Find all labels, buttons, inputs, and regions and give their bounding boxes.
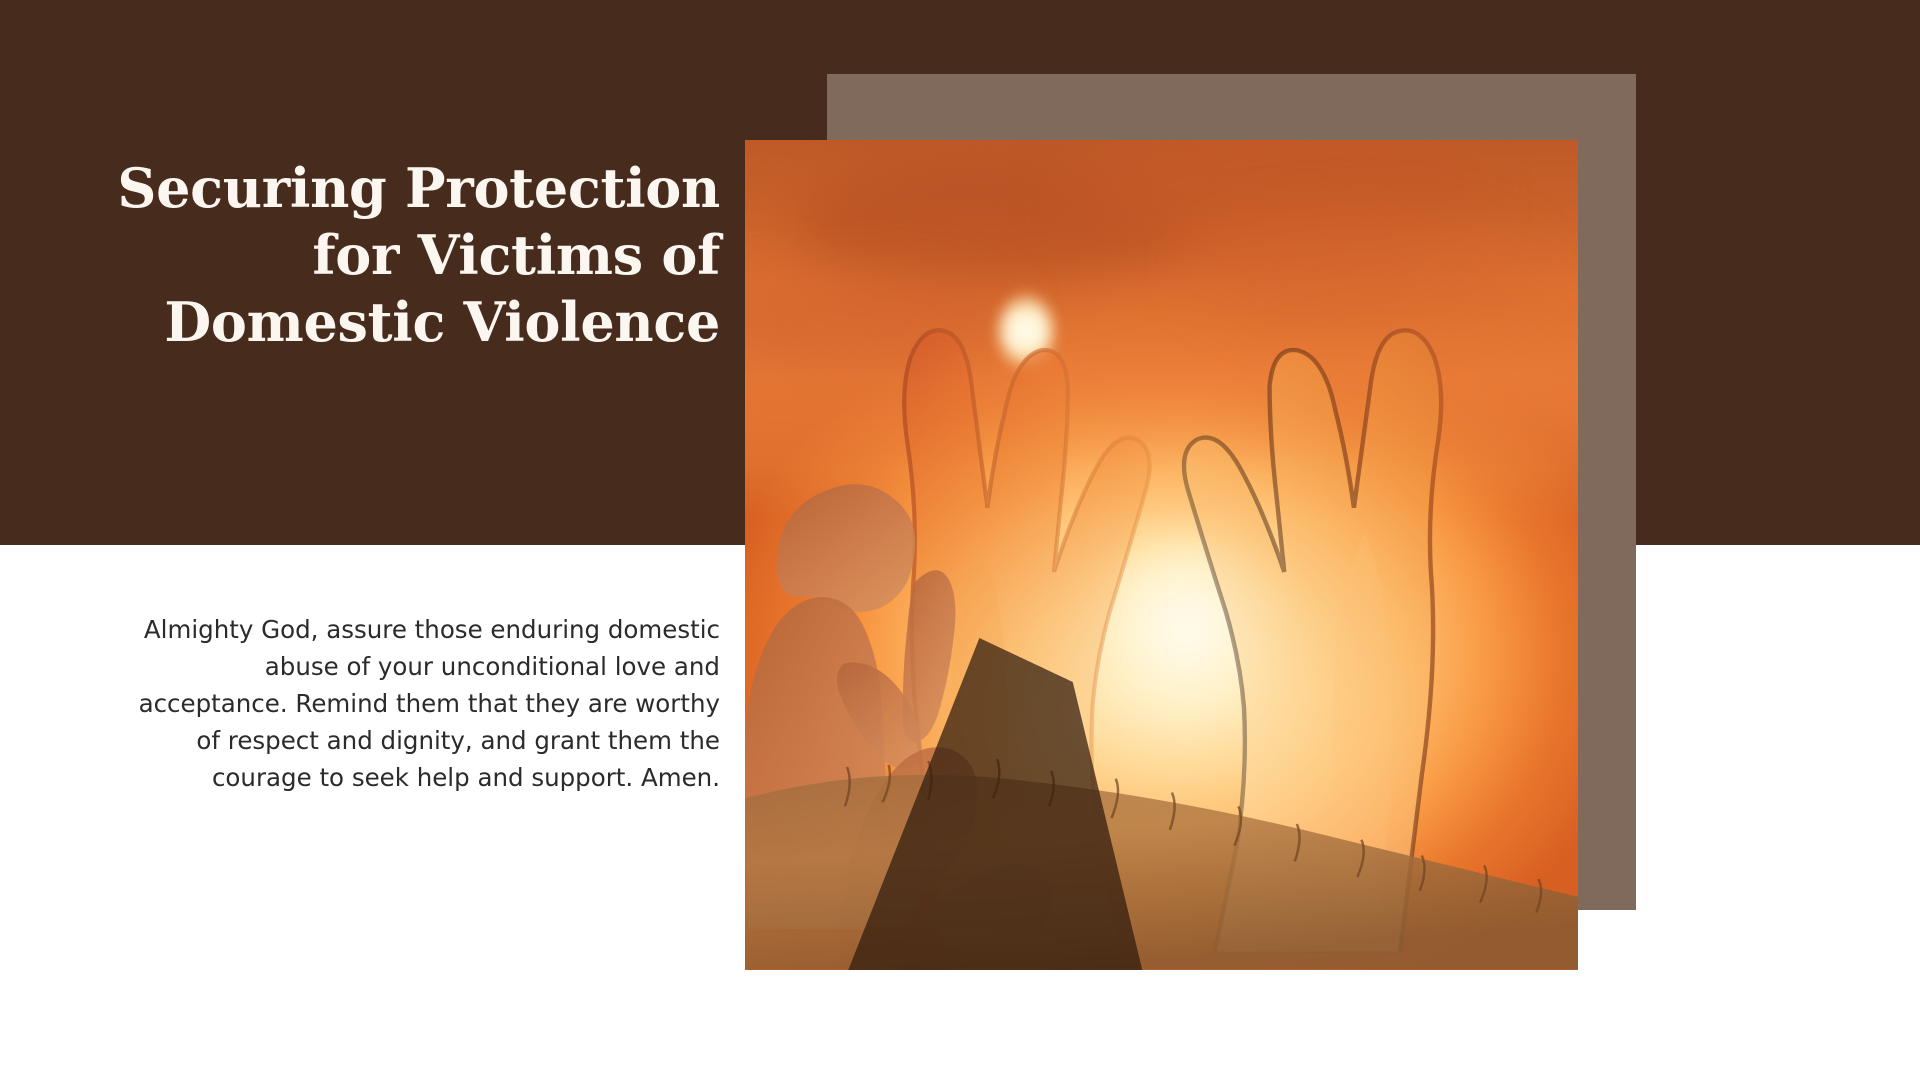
title-line-1: Securing Protection xyxy=(60,155,720,222)
page-title: Securing Protection for Victims of Domes… xyxy=(60,155,720,356)
prayer-text-block: Almighty God, assure those enduring dome… xyxy=(120,612,720,797)
shadow-wedge-overlay xyxy=(745,638,1261,970)
prayer-paragraph: Almighty God, assure those enduring dome… xyxy=(120,612,720,797)
hero-image xyxy=(745,140,1578,970)
title-line-3: Domestic Violence xyxy=(60,289,720,356)
title-line-2: for Victims of xyxy=(60,222,720,289)
hero-image-canvas xyxy=(745,140,1578,970)
